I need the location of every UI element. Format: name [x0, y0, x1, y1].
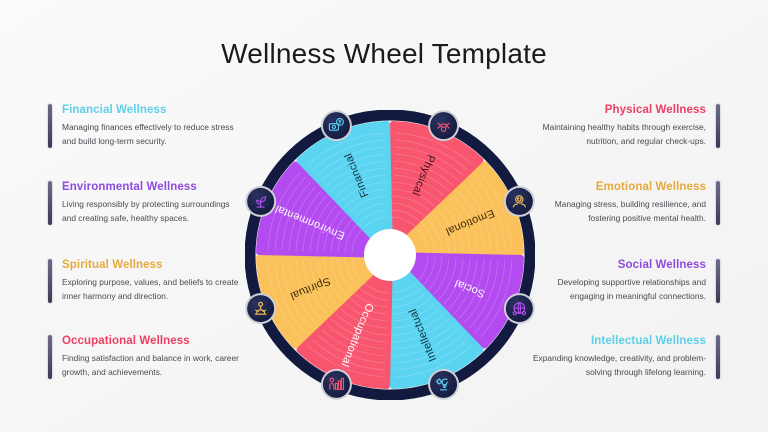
badge-smiling-face-icon[interactable] [504, 186, 535, 217]
info-block-financial: Financial Wellness Managing finances eff… [48, 104, 244, 148]
info-block-emotional: Emotional Wellness Managing stress, buil… [524, 181, 720, 225]
info-description: Exploring purpose, values, and beliefs t… [62, 276, 244, 303]
info-heading: Occupational Wellness [62, 335, 244, 348]
info-block-physical: Physical Wellness Maintaining healthy ha… [524, 104, 720, 148]
info-heading: Emotional Wellness [524, 181, 706, 194]
wheel-svg: PhysicalEmotionalSocialIntellectualOccup… [245, 110, 535, 400]
info-heading: Spiritual Wellness [62, 259, 244, 272]
badge-money-coin-icon[interactable] [321, 110, 352, 141]
accent-bar [48, 181, 52, 225]
info-block-environmental: Environmental Wellness Living responsibl… [48, 181, 244, 225]
info-heading: Social Wellness [524, 259, 706, 272]
badge-dumbbell-icon[interactable] [428, 110, 459, 141]
info-block-social: Social Wellness Developing supportive re… [524, 259, 720, 303]
info-heading: Environmental Wellness [62, 181, 244, 194]
info-description: Managing stress, building resilience, an… [524, 198, 706, 225]
info-block-spiritual: Spiritual Wellness Exploring purpose, va… [48, 259, 244, 303]
accent-bar [716, 259, 720, 303]
info-heading: Physical Wellness [524, 104, 706, 117]
badge-eco-nature-icon[interactable] [245, 186, 276, 217]
info-block-occupational: Occupational Wellness Finding satisfacti… [48, 335, 244, 379]
accent-bar [716, 181, 720, 225]
wheel-center-hub [364, 229, 416, 281]
info-description: Maintaining healthy habits through exerc… [524, 121, 706, 148]
info-description: Managing finances effectively to reduce … [62, 121, 244, 148]
info-heading: Intellectual Wellness [524, 335, 706, 348]
accent-bar [716, 104, 720, 148]
accent-bar [716, 335, 720, 379]
accent-bar [48, 259, 52, 303]
info-heading: Financial Wellness [62, 104, 244, 117]
info-description: Finding satisfaction and balance in work… [62, 352, 244, 379]
wellness-wheel: PhysicalEmotionalSocialIntellectualOccup… [245, 110, 535, 400]
badge-career-chart-icon[interactable] [321, 369, 352, 400]
info-description: Developing supportive relationships and … [524, 276, 706, 303]
badge-meditation-icon[interactable] [245, 293, 276, 324]
badge-lightbulb-gear-icon[interactable] [428, 369, 459, 400]
accent-bar [48, 335, 52, 379]
accent-bar [48, 104, 52, 148]
info-block-intellectual: Intellectual Wellness Expanding knowledg… [524, 335, 720, 379]
info-description: Expanding knowledge, creativity, and pro… [524, 352, 706, 379]
badge-people-globe-icon[interactable] [504, 293, 535, 324]
slide-canvas: Wellness Wheel Template Financial Wellne… [0, 0, 768, 432]
info-description: Living responsibly by protecting surroun… [62, 198, 244, 225]
page-title: Wellness Wheel Template [0, 38, 768, 70]
